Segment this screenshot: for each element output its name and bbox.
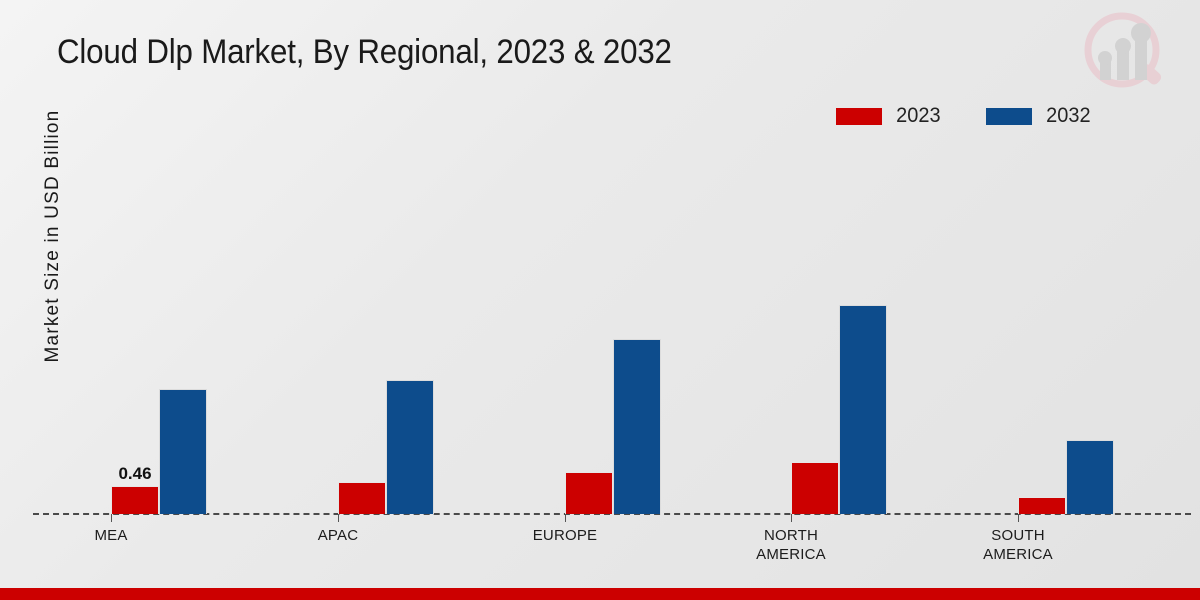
bar-pair: 0.46	[111, 389, 207, 514]
bar-2023-europe[interactable]	[565, 472, 613, 514]
category-label-south-america: SOUTHAMERICA	[983, 526, 1053, 564]
axis-tick	[565, 514, 566, 522]
bar-2023-north-america[interactable]	[791, 462, 839, 514]
axis-tick	[1018, 514, 1019, 522]
bar-2023-apac[interactable]	[338, 482, 386, 514]
bar-pair	[1018, 440, 1114, 514]
axis-tick	[791, 514, 792, 522]
bar-2032-north-america[interactable]	[839, 305, 887, 514]
category-label-apac: APAC	[318, 526, 359, 545]
category-label-europe: EUROPE	[533, 526, 598, 545]
axis-tick	[338, 514, 339, 522]
bar-2032-apac[interactable]	[386, 380, 434, 514]
category-label-north-america: NORTHAMERICA	[756, 526, 826, 564]
bar-2032-europe[interactable]	[613, 339, 661, 514]
bar-2023-south-america[interactable]	[1018, 497, 1066, 514]
footer-accent-bar	[0, 588, 1200, 600]
chart-page: Cloud Dlp Market, By Regional, 2023 & 20…	[0, 0, 1200, 600]
bar-pair	[791, 305, 887, 514]
bar-value-label-mea-2023: 0.46	[118, 464, 151, 484]
axis-tick	[111, 514, 112, 522]
category-label-mea: MEA	[94, 526, 127, 545]
bar-2023-mea[interactable]: 0.46	[111, 486, 159, 514]
plot-area: 0.46 MEA APAC EUROPE	[0, 0, 1200, 560]
bar-2032-south-america[interactable]	[1066, 440, 1114, 514]
bar-pair	[565, 339, 661, 514]
bar-2032-mea[interactable]	[159, 389, 207, 514]
bar-pair	[338, 380, 434, 514]
